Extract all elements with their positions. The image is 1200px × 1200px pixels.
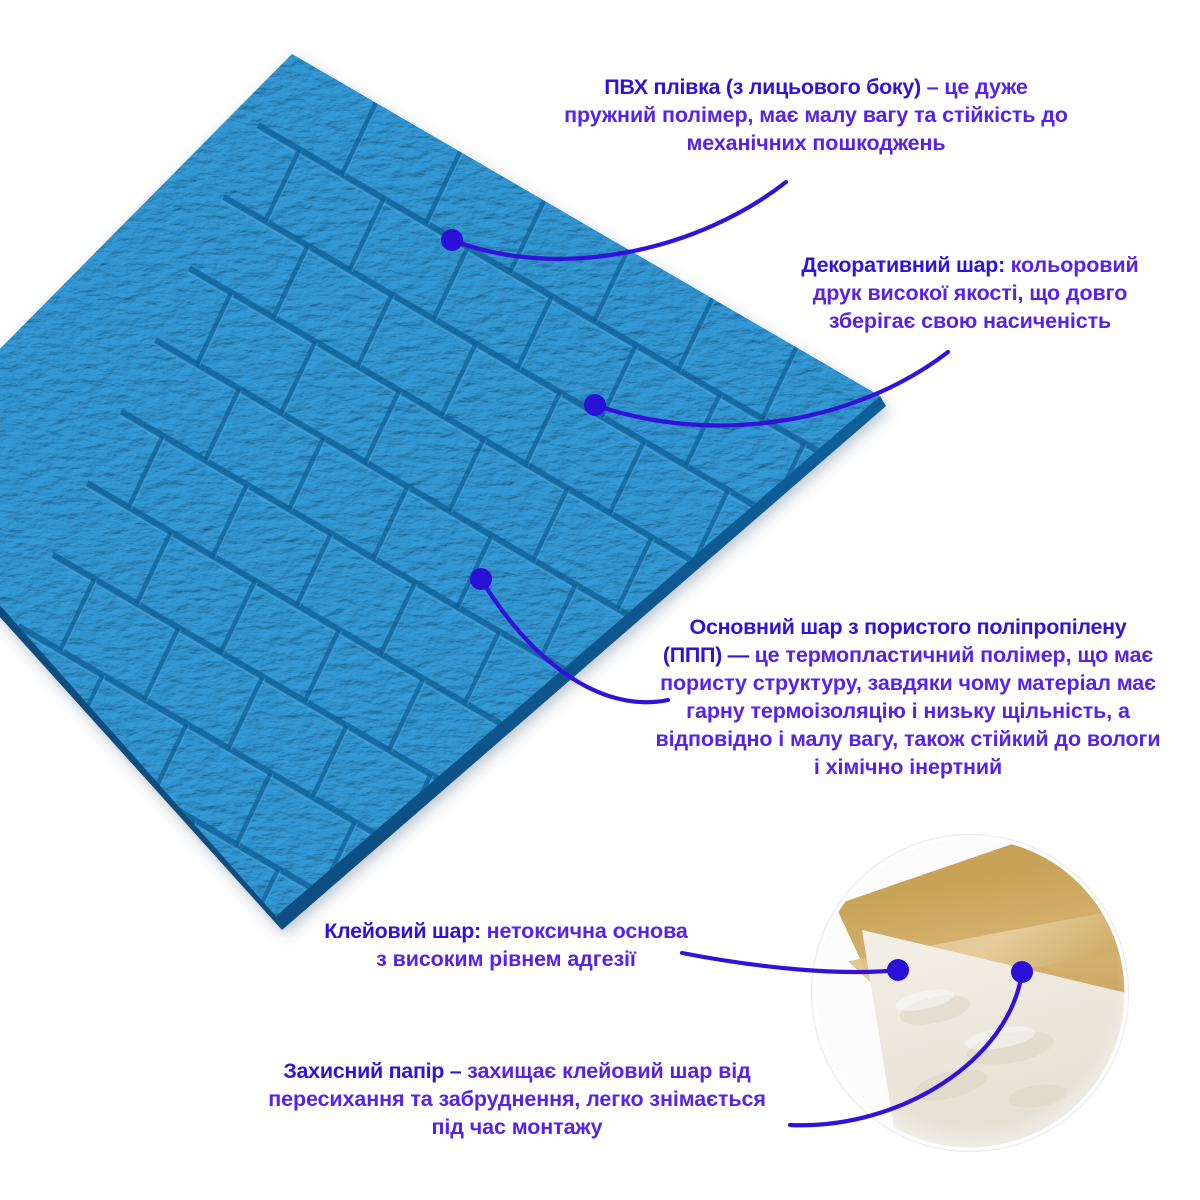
callout-deco-line1-bold: Декоративний шар:	[801, 253, 1010, 277]
callout-decorative-layer: Декоративний шар: кольоровий друк високо…	[770, 252, 1170, 336]
callout-glue-line2: з високим рівнем адгезії	[296, 946, 716, 974]
callout-glue-line1-rest: нетоксична основа	[487, 919, 688, 943]
callout-pvc-film: ПВХ плівка (з лицьового боку) – це дуже …	[556, 74, 1076, 158]
callout-deco-line1-rest: кольоровий	[1011, 253, 1139, 277]
callout-ppp-line6: і хімічно інертний	[636, 754, 1180, 782]
callout-pvc-line3: механічних пошкоджень	[556, 130, 1076, 158]
artwork-layer	[0, 0, 1200, 1200]
callout-pvc-line1-rest: – це дуже	[927, 75, 1028, 99]
callout-adhesive-layer: Клейовий шар: нетоксична основа з високи…	[296, 918, 716, 974]
callout-pvc-line1-bold: ПВХ плівка (з лицьового боку)	[604, 75, 926, 99]
callout-pvc-line2: пружний полімер, має малу вагу та стійкі…	[556, 102, 1076, 130]
callout-deco-line3: зберігає свою насиченість	[770, 308, 1170, 336]
callout-ppp-line2-bold: (ППП) —	[663, 643, 755, 667]
callout-ppp-line4: гарну термоізоляцію і низьку щільність, …	[636, 698, 1180, 726]
callout-paper-line1-bold: Захисний папір –	[283, 1059, 467, 1083]
callout-deco-line2: друк високої якості, що довго	[770, 280, 1170, 308]
callout-ppp-line5: відповідно і малу вагу, також стійкий до…	[636, 726, 1180, 754]
callout-paper-line2: пересихання та забруднення, легко знімає…	[246, 1086, 788, 1114]
callout-polypropylene-core: Основний шар з пористого поліпропілену (…	[636, 614, 1180, 782]
callout-ppp-line2-rest: це термопластичний полімер, що має	[755, 643, 1154, 667]
callout-ppp-line3: пористу структуру, завдяки чому матеріал…	[636, 670, 1180, 698]
adhesive-photo-inset	[811, 800, 1175, 1185]
callout-glue-line1-bold: Клейовий шар:	[324, 919, 486, 943]
callout-paper-line3: під час монтажу	[246, 1114, 788, 1142]
callout-ppp-line2: (ППП) — це термопластичний полімер, що м…	[636, 642, 1180, 670]
callout-ppp-line1-bold: Основний шар з пористого поліпропілену	[690, 615, 1127, 639]
callout-paper-line1-rest: захищає клейовий шар від	[467, 1059, 751, 1083]
callout-protective-paper: Захисний папір – захищає клейовий шар ві…	[246, 1058, 788, 1142]
infographic-root: ПВХ плівка (з лицьового боку) – це дуже …	[0, 0, 1200, 1200]
